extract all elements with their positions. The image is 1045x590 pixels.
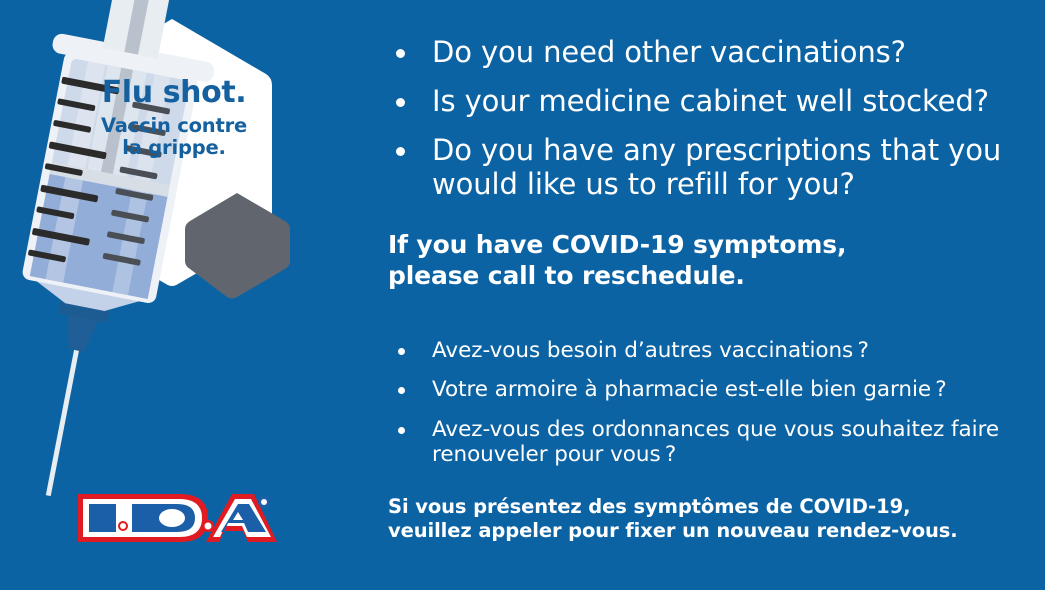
bullet-text: Votre armoire à pharmacie est-elle bien … — [432, 377, 947, 402]
logo-d-counter — [159, 509, 185, 527]
english-bullet-list: Do you need other vaccinations? Is your … — [388, 36, 1028, 202]
bullet-text: Avez-vous des ordonnances que vous souha… — [432, 417, 999, 467]
bullet-dot-icon — [396, 98, 405, 107]
english-covid-notice: If you have COVID-19 symptoms, please ca… — [388, 230, 1028, 291]
bullet-text: Do you need other vaccinations? — [432, 35, 906, 69]
list-item: Avez-vous besoin d’autres vaccinations ? — [388, 338, 1028, 363]
bullet-text: Do you have any prescriptions that you w… — [432, 133, 1001, 201]
french-notice-line-1: Si vous présentez des symptômes de COVID… — [388, 495, 1028, 519]
flu-shot-poster: Flu shot. Vaccin contre la grippe. — [0, 0, 1045, 590]
bullet-text: Avez-vous besoin d’autres vaccinations ? — [432, 338, 869, 363]
bullet-dot-icon — [398, 348, 405, 355]
list-item: Do you need other vaccinations? — [388, 36, 1028, 70]
bullet-dot-icon — [396, 147, 405, 156]
list-item: Votre armoire à pharmacie est-elle bien … — [388, 377, 1028, 402]
bullet-dot-icon — [396, 49, 405, 58]
bullet-dot-icon — [398, 387, 405, 394]
content-panel: Do you need other vaccinations? Is your … — [388, 0, 1028, 590]
list-item: Do you have any prescriptions that you w… — [388, 134, 1028, 202]
french-bullet-list: Avez-vous besoin d’autres vaccinations ?… — [388, 338, 1028, 467]
list-item: Is your medicine cabinet well stocked? — [388, 85, 1028, 119]
artwork-panel: Flu shot. Vaccin contre la grippe. — [0, 0, 370, 590]
ida-logo — [72, 484, 277, 552]
list-item: Avez-vous des ordonnances que vous souha… — [388, 417, 1028, 468]
french-covid-notice: Si vous présentez des symptômes de COVID… — [388, 495, 1028, 544]
french-notice-line-2: veuillez appeler pour fixer un nouveau r… — [388, 519, 1028, 543]
english-notice-line-2: please call to reschedule. — [388, 261, 1028, 292]
english-notice-line-1: If you have COVID-19 symptoms, — [388, 230, 1028, 261]
bullet-dot-icon — [398, 427, 405, 434]
bullet-text: Is your medicine cabinet well stocked? — [432, 84, 989, 118]
